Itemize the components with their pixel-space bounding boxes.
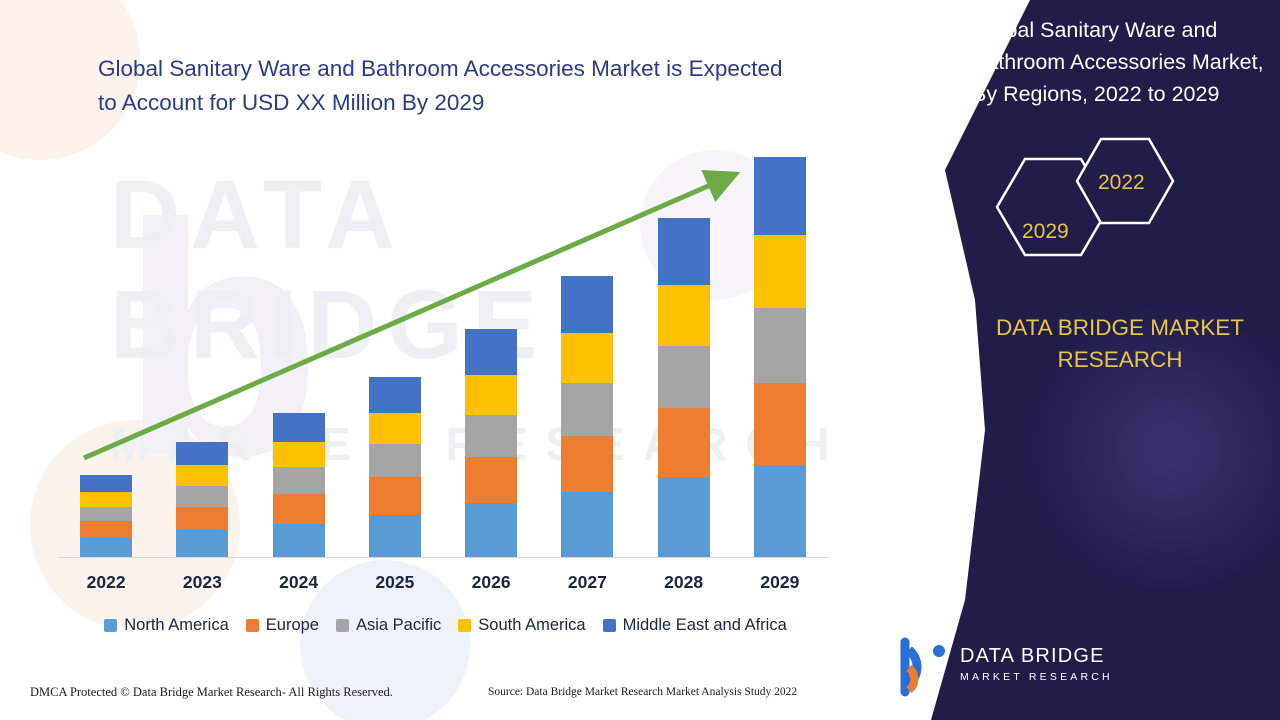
- legend-label: Europe: [266, 616, 319, 635]
- bar-segment: [561, 383, 613, 435]
- hex-label-2029: 2029: [1022, 220, 1069, 244]
- legend-item[interactable]: Middle East and Africa: [603, 616, 787, 635]
- bar-segment: [561, 436, 613, 493]
- logo-line-2: MARKET RESEARCH: [960, 671, 1113, 683]
- bar-segment: [369, 444, 421, 478]
- bar-segment: [658, 477, 710, 557]
- bar-segment: [176, 530, 228, 557]
- chart-legend: North AmericaEuropeAsia PacificSouth Ame…: [58, 616, 833, 635]
- bar-segment: [369, 515, 421, 557]
- x-axis-tick-label: 2029: [754, 572, 806, 593]
- hex-label-2022: 2022: [1098, 171, 1145, 195]
- infographic-slide: b DATA BRIDGE MARKET RESEARCH Global San…: [0, 0, 1280, 720]
- bar-segment: [754, 235, 806, 308]
- bar-column: [754, 157, 806, 557]
- bar-segment: [176, 465, 228, 486]
- x-axis-tick-label: 2023: [176, 572, 228, 593]
- legend-label: Middle East and Africa: [623, 616, 787, 635]
- bar-segment: [754, 308, 806, 383]
- bar-segment: [80, 538, 132, 557]
- logo-line-1: DATA BRIDGE: [960, 645, 1113, 668]
- bar-series-container: [58, 150, 828, 557]
- bar-column: [80, 475, 132, 557]
- bar-column: [658, 218, 710, 557]
- bar-column: [176, 442, 228, 557]
- bar-segment: [80, 521, 132, 538]
- bar-column: [561, 276, 613, 557]
- chart-plot-area: [58, 150, 828, 558]
- bar-segment: [754, 383, 806, 465]
- x-axis-tick-label: 2028: [658, 572, 710, 593]
- bar-segment: [658, 408, 710, 477]
- x-axis-tick-label: 2025: [369, 572, 421, 593]
- legend-item[interactable]: North America: [104, 616, 229, 635]
- bar-segment: [658, 346, 710, 409]
- copyright-text: DMCA Protected © Data Bridge Market Rese…: [30, 685, 393, 700]
- bar-segment: [561, 276, 613, 333]
- bar-column: [273, 413, 325, 557]
- legend-swatch: [458, 619, 471, 632]
- bar-segment: [658, 285, 710, 346]
- logo-text: DATA BRIDGE MARKET RESEARCH: [960, 645, 1113, 683]
- chart-title: Global Sanitary Ware and Bathroom Access…: [98, 52, 798, 120]
- bar-segment: [754, 157, 806, 234]
- legend-label: North America: [124, 616, 229, 635]
- bar-segment: [273, 413, 325, 442]
- bar-segment: [465, 457, 517, 503]
- x-axis-tick-label: 2022: [80, 572, 132, 593]
- legend-swatch: [246, 619, 259, 632]
- bar-segment: [465, 503, 517, 557]
- bar-column: [465, 329, 517, 557]
- bar-segment: [561, 333, 613, 383]
- bar-segment: [176, 507, 228, 530]
- bar-segment: [176, 486, 228, 507]
- source-text: Source: Data Bridge Market Research Mark…: [488, 686, 797, 698]
- bar-segment: [465, 329, 517, 375]
- bar-segment: [754, 465, 806, 557]
- legend-swatch: [603, 619, 616, 632]
- bar-segment: [369, 477, 421, 515]
- legend-item[interactable]: South America: [458, 616, 585, 635]
- x-axis-tick-label: 2027: [561, 572, 613, 593]
- bar-segment: [176, 442, 228, 465]
- bar-segment: [273, 524, 325, 558]
- bar-segment: [80, 492, 132, 507]
- bar-column: [369, 377, 421, 557]
- bar-segment: [80, 507, 132, 522]
- x-axis-labels: 20222023202420252026202720282029: [58, 572, 828, 593]
- bar-segment: [465, 415, 517, 457]
- bar-segment: [658, 218, 710, 285]
- x-axis-tick-label: 2026: [465, 572, 517, 593]
- legend-label: Asia Pacific: [356, 616, 441, 635]
- bar-segment: [273, 494, 325, 523]
- bar-segment: [465, 375, 517, 415]
- x-axis-tick-label: 2024: [273, 572, 325, 593]
- hexagon-badges-icon: [985, 135, 1185, 280]
- bar-segment: [561, 492, 613, 557]
- legend-item[interactable]: Europe: [246, 616, 319, 635]
- panel-brand-name: DATA BRIDGE MARKET RESEARCH: [975, 312, 1265, 376]
- bar-segment: [369, 377, 421, 413]
- bar-segment: [80, 475, 132, 492]
- bar-segment: [369, 413, 421, 444]
- bar-segment: [273, 442, 325, 467]
- x-axis-line: [58, 557, 828, 558]
- legend-label: South America: [478, 616, 585, 635]
- panel-title: Global Sanitary Ware and Bathroom Access…: [972, 14, 1272, 110]
- legend-swatch: [104, 619, 117, 632]
- legend-swatch: [336, 619, 349, 632]
- bar-segment: [273, 467, 325, 494]
- legend-item[interactable]: Asia Pacific: [336, 616, 441, 635]
